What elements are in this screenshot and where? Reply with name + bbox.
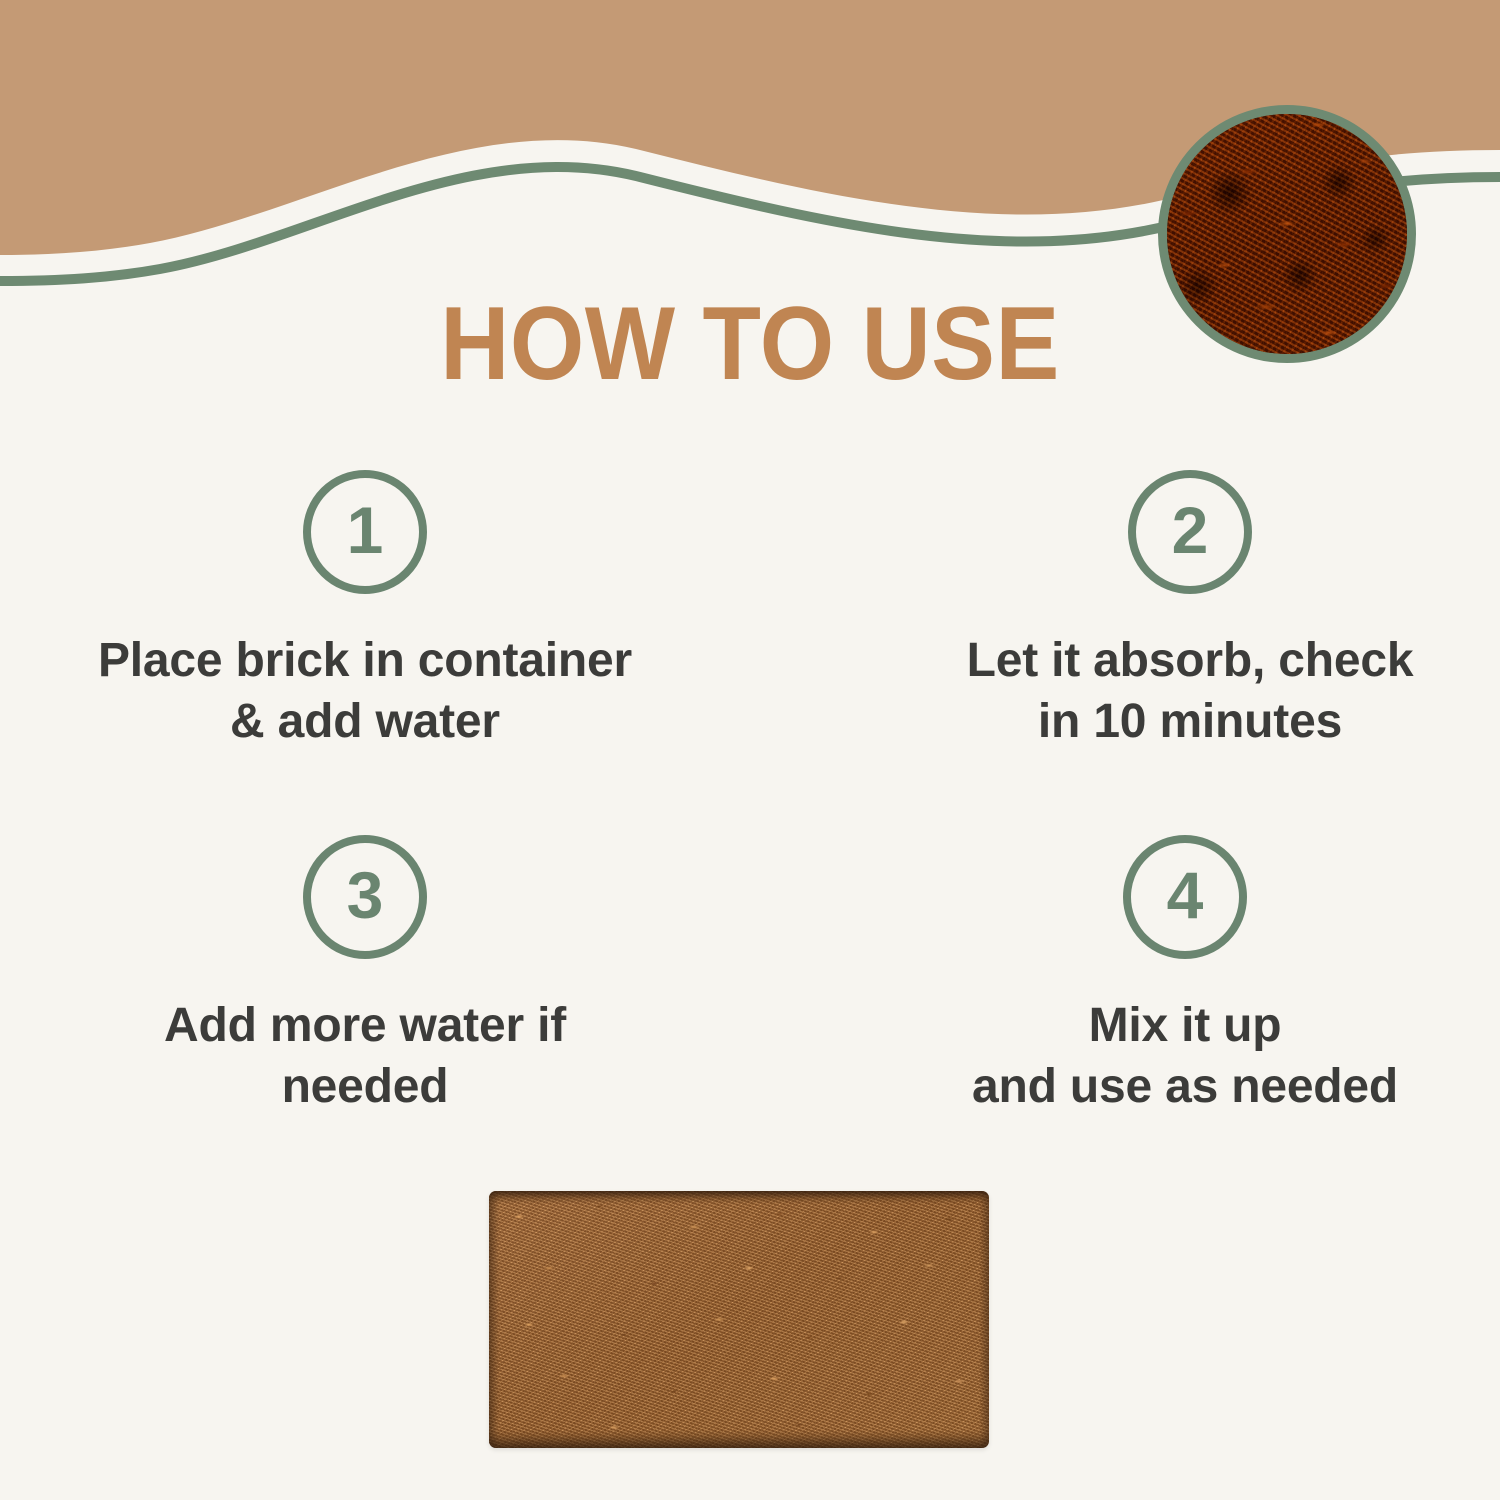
coco-coir-brick-image	[489, 1191, 989, 1448]
steps-grid: 1 Place brick in container & add water 2…	[0, 470, 1500, 1118]
step-1-text: Place brick in container & add water	[98, 630, 632, 753]
step-2-number-badge: 2	[1128, 470, 1252, 594]
brick-bottom-edge	[489, 1430, 989, 1448]
infographic-canvas: HOW TO USE 1 Place brick in container & …	[0, 0, 1500, 1500]
step-3: 3 Add more water if needed	[0, 835, 740, 1118]
brick-right-edge	[979, 1191, 989, 1448]
step-3-text: Add more water if needed	[164, 995, 566, 1118]
step-3-number-badge: 3	[303, 835, 427, 959]
step-4-text: Mix it up and use as needed	[972, 995, 1398, 1118]
step-1: 1 Place brick in container & add water	[0, 470, 740, 753]
brick-left-edge	[489, 1191, 499, 1448]
brick-top-edge	[489, 1191, 989, 1204]
step-2-text: Let it absorb, check in 10 minutes	[967, 630, 1414, 753]
step-4-number-badge: 4	[1123, 835, 1247, 959]
step-4: 4 Mix it up and use as needed	[810, 835, 1500, 1118]
step-1-number-badge: 1	[303, 470, 427, 594]
step-2: 2 Let it absorb, check in 10 minutes	[815, 470, 1500, 753]
brick-texture	[489, 1191, 989, 1448]
page-title: HOW TO USE	[60, 292, 1440, 396]
